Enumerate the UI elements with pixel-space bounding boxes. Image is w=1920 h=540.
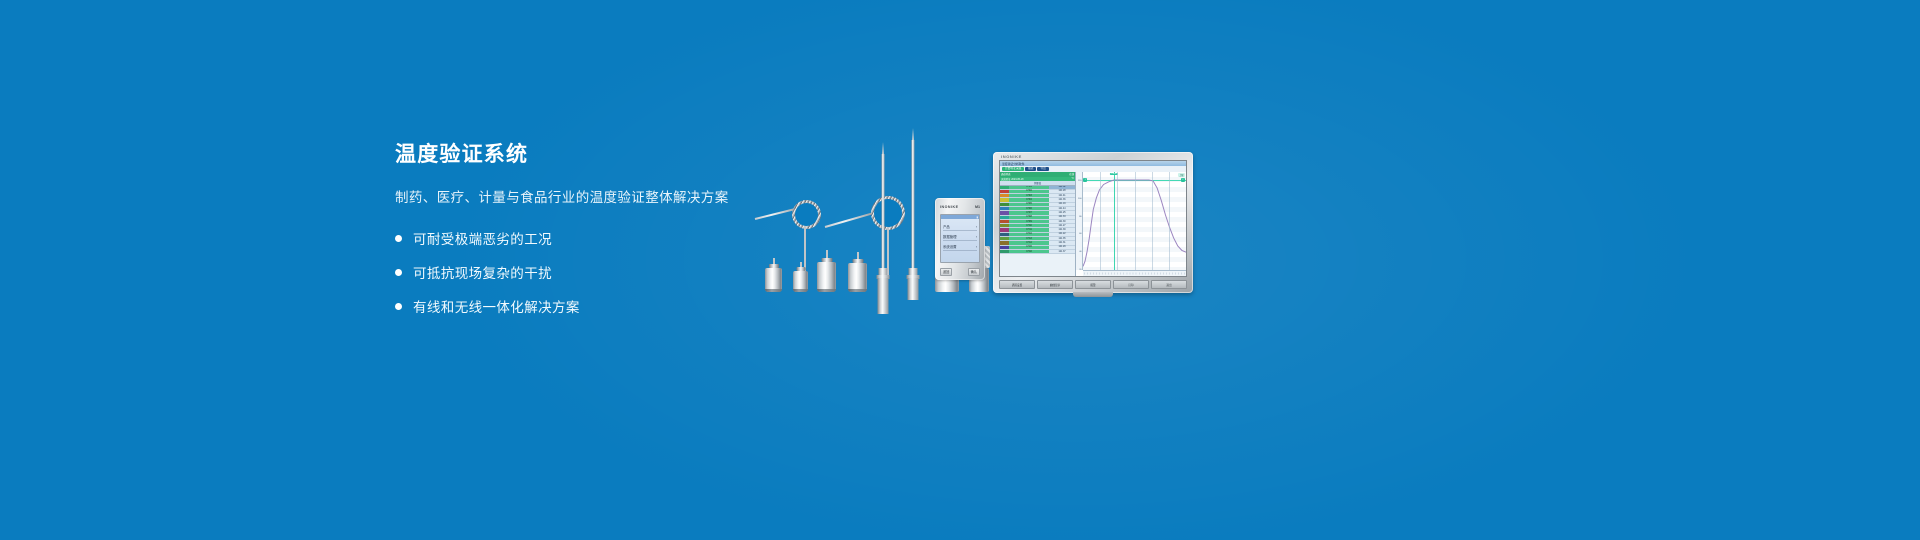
channel-value: 121.25 — [1049, 211, 1075, 214]
panel-monitor: INONIKE 温度验证分析软件 开始/停止采集 报表 导出 通道列表 在线 — [993, 152, 1193, 293]
monitor-footer-buttons: 通道设置曲线显示报警打印退出 — [999, 280, 1187, 289]
channel-value: 121.35 — [1049, 237, 1075, 240]
channel-name: CH13 — [1009, 237, 1049, 240]
logger-body — [848, 263, 867, 292]
feature-label: 可抵抗现场复杂的干扰 — [413, 262, 552, 282]
x-tick-label: | — [1183, 273, 1186, 275]
needle-shaft — [911, 140, 914, 270]
device-menu-item[interactable]: 数据管理 › — [943, 233, 977, 241]
device-brand-row: INONIKE M1 — [940, 205, 980, 209]
bullet-dot-icon — [395, 269, 402, 276]
monitor-footer-button[interactable]: 报警 — [1075, 280, 1111, 289]
channel-color-swatch — [1000, 216, 1009, 219]
channel-value: 121.31 — [1049, 241, 1075, 244]
channel-name: CH06 — [1009, 207, 1049, 210]
chart-gridline — [1100, 172, 1101, 270]
channel-value: 121.19 — [1049, 203, 1075, 206]
channel-name: CH01 — [1009, 186, 1049, 189]
channel-color-swatch — [1000, 198, 1009, 201]
channel-color-swatch — [1000, 203, 1009, 206]
probe-coil — [792, 200, 821, 229]
channel-color-swatch — [1000, 250, 1009, 253]
channel-value: 121.28 — [1049, 190, 1075, 193]
chevron-right-icon: › — [976, 245, 977, 249]
logger-small-2 — [793, 262, 808, 292]
chart-gridline — [1169, 172, 1170, 270]
channel-name: CH11 — [1009, 228, 1049, 231]
monitor-footer-button[interactable]: 打印 — [1113, 280, 1149, 289]
channel-color-swatch — [1000, 186, 1009, 189]
needle-probe-short — [877, 142, 889, 292]
channel-name: CH09 — [1009, 220, 1049, 223]
channel-name: CH12 — [1009, 233, 1049, 236]
channel-color-swatch — [1000, 220, 1009, 223]
device-menu-item[interactable]: 系统设置 › — [943, 243, 977, 251]
unit-label: ℃ — [1071, 177, 1074, 180]
channel-value: 121.27 — [1049, 224, 1075, 227]
device-confirm-key[interactable]: 确认 — [968, 268, 980, 276]
needle-body — [908, 278, 919, 300]
channel-name: CH14 — [1009, 241, 1049, 244]
probe-cable — [825, 212, 874, 228]
channel-name: CH02 — [1009, 190, 1049, 193]
temperature-chart[interactable]: 20406080100120 1 2 4 min 上限 ||||||||||||… — [1076, 172, 1186, 276]
y-tick-label: 80 — [1079, 216, 1081, 218]
chart-gridline — [1152, 172, 1153, 270]
monitor-footer-button[interactable]: 曲线显示 — [1037, 280, 1073, 289]
device-menu-item[interactable]: 产品 › — [943, 223, 977, 231]
logger-medium-1 — [817, 250, 836, 292]
logger-small-1 — [765, 258, 782, 292]
table-body: CH01121.32CH02121.28CH03121.41CH04121.36… — [1000, 186, 1075, 277]
y-tick-label: 100 — [1078, 198, 1081, 200]
y-tick-label: 20 — [1079, 269, 1081, 271]
chart-gridline — [1135, 172, 1136, 270]
y-tick-label: 60 — [1079, 233, 1081, 235]
channel-color-swatch — [1000, 246, 1009, 249]
channel-value: 121.37 — [1049, 250, 1075, 253]
chevron-right-icon: › — [976, 225, 977, 229]
device-menu-label: 产品 — [943, 224, 950, 229]
channel-color-swatch — [1000, 211, 1009, 214]
y-tick-label: 120 — [1078, 180, 1081, 182]
window-title: 温度验证分析软件 — [1002, 162, 1024, 166]
channel-name: CH10 — [1009, 224, 1049, 227]
hero-banner: 温度验证系统 制药、医疗、计量与食品行业的温度验证整体解决方案 可耐受极端恶劣的… — [0, 0, 1920, 540]
device-status-bar: ▮ — [941, 215, 979, 219]
channel-name: CH08 — [1009, 216, 1049, 219]
chart-gridline — [1117, 172, 1118, 270]
channel-color-swatch — [1000, 241, 1009, 244]
y-tick-label: 40 — [1079, 251, 1081, 253]
channel-name: CH03 — [1009, 194, 1049, 197]
bullet-dot-icon — [395, 303, 402, 310]
monitor-footer-button[interactable]: 通道设置 — [999, 280, 1035, 289]
channel-color-swatch — [1000, 237, 1009, 240]
channel-color-swatch — [1000, 207, 1009, 210]
tab-report[interactable]: 报表 — [1025, 167, 1036, 172]
channel-table[interactable]: 通道列表 在线 灭菌验证 2023-05-18 ℃ 测量值 CH01121.32… — [1000, 172, 1076, 276]
channel-name: CH05 — [1009, 203, 1049, 206]
feature-label: 可耐受极端恶劣的工况 — [413, 228, 552, 248]
logger-body — [765, 268, 782, 292]
handheld-reader-device: INONIKE M1 ▮ 产品 › 数据管理 › 系统设置 › 返回 确认 — [935, 198, 985, 280]
device-menu-label: 数据管理 — [943, 234, 957, 239]
software-body: 通道列表 在线 灭菌验证 2023-05-18 ℃ 测量值 CH01121.32… — [1000, 172, 1186, 276]
device-lcd-screen[interactable]: ▮ 产品 › 数据管理 › 系统设置 › — [940, 214, 980, 263]
channel-value: 121.30 — [1049, 220, 1075, 223]
channel-value: 121.29 — [1049, 246, 1075, 249]
monitor-footer-button[interactable]: 退出 — [1151, 280, 1187, 289]
chart-x-axis: |||||||||||||||||||||||||||||||||| — [1083, 270, 1186, 276]
table-row[interactable]: CH16121.37 — [1000, 250, 1075, 254]
monitor-stand — [1073, 292, 1113, 297]
device-brand-label: INONIKE — [940, 205, 958, 209]
chart-y-axis: 20406080100120 — [1076, 172, 1083, 270]
channel-value: 121.22 — [1049, 233, 1075, 236]
channel-color-swatch — [1000, 224, 1009, 227]
chart-plot-area[interactable]: 1 2 4 min 上限 — [1083, 172, 1186, 270]
device-keypad: 返回 确认 — [940, 268, 980, 276]
logger-body — [817, 262, 836, 292]
chevron-right-icon: › — [976, 235, 977, 239]
device-model-label: M1 — [975, 205, 980, 209]
logger-medium-2 — [848, 252, 867, 292]
needle-probe-long — [907, 128, 919, 292]
monitor-brand-label: INONIKE — [1001, 154, 1022, 159]
battery-icon: ▮ — [977, 216, 978, 219]
channel-value: 121.39 — [1049, 228, 1075, 231]
logger-body — [793, 271, 808, 293]
channel-name: CH16 — [1009, 250, 1049, 253]
channel-color-swatch — [1000, 190, 1009, 193]
bullet-dot-icon — [395, 235, 402, 242]
channel-value: 121.41 — [1049, 194, 1075, 197]
channel-name: CH15 — [1009, 246, 1049, 249]
device-back-key[interactable]: 返回 — [940, 268, 952, 276]
channel-value: 121.33 — [1049, 216, 1075, 219]
channel-color-swatch — [1000, 194, 1009, 197]
channel-name: CH07 — [1009, 211, 1049, 214]
needle-shaft — [882, 154, 885, 270]
feature-label: 有线和无线一体化解决方案 — [413, 296, 580, 316]
channel-color-swatch — [1000, 233, 1009, 236]
device-menu-label: 系统设置 — [943, 244, 957, 249]
tab-acquisition[interactable]: 开始/停止采集 — [1002, 167, 1024, 172]
channel-value: 121.44 — [1049, 207, 1075, 210]
monitor-screen[interactable]: 温度验证分析软件 开始/停止采集 报表 导出 通道列表 在线 灭菌验证 2023… — [999, 160, 1187, 277]
channel-color-swatch — [1000, 228, 1009, 231]
channel-value: 121.32 — [1049, 186, 1075, 189]
tab-export[interactable]: 导出 — [1037, 167, 1048, 172]
logger-cap — [796, 267, 805, 271]
needle-body — [878, 278, 889, 314]
channel-name: CH04 — [1009, 198, 1049, 201]
channel-value: 121.36 — [1049, 198, 1075, 201]
